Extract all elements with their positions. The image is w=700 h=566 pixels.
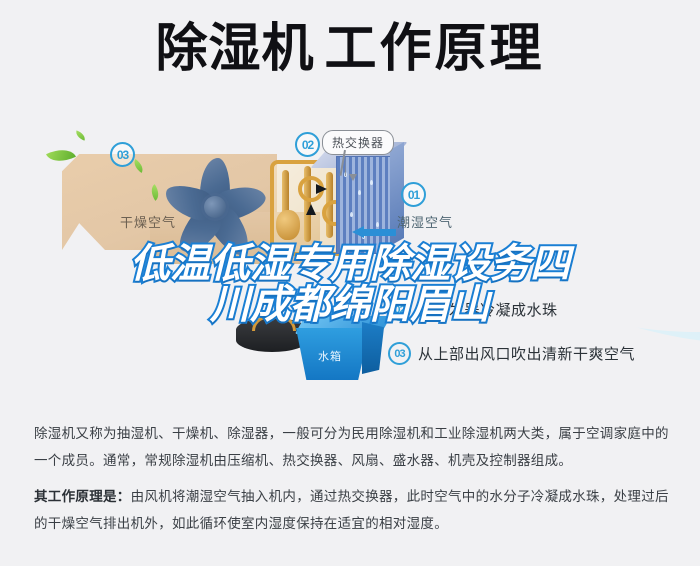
callout-pointer-arrow <box>349 174 357 181</box>
caption-number-03: 03 <box>388 342 411 365</box>
motor-coil-shape <box>252 316 296 331</box>
callout-number-03-left: 03 <box>110 142 135 167</box>
article-body: 除湿机又称为抽湿机、干燥机、除湿器，一般可分为民用除湿机和工业除湿机两大类，属于… <box>34 420 670 546</box>
title-product-name: 除湿机 <box>155 20 314 78</box>
caption-02: 02 过蒸发器冷凝成水珠 <box>388 298 558 321</box>
heat-exchanger-callout-bubble: 热交换器 <box>322 130 394 155</box>
humid-air-label: 潮湿空气 <box>397 212 453 231</box>
caption-number-02: 02 <box>388 298 411 321</box>
body-paragraph-2-lead: 其工作原理是： <box>34 489 131 504</box>
water-tank-icon: 水箱 <box>296 316 388 386</box>
callout-number-02: 02 <box>295 132 320 157</box>
fan-icon <box>160 148 268 256</box>
title-subject: 工作原理 <box>325 20 545 78</box>
caption-03: 03 从上部出风口吹出清新干爽空气 <box>388 342 635 365</box>
body-paragraph-1: 除湿机又称为抽湿机、干燥机、除湿器，一般可分为民用除湿机和工业除湿机两大类，属于… <box>34 420 670 474</box>
leaf-icon <box>74 130 87 140</box>
caption-text-02: 过蒸发器冷凝成水珠 <box>418 299 558 320</box>
water-tank-label: 水箱 <box>318 348 342 364</box>
poster-page: 除湿机工作原理 干燥空气 <box>0 0 700 566</box>
dehumidifier-diagram: 干燥空气 <box>0 120 700 400</box>
caption-text-03: 从上部出风口吹出清新干爽空气 <box>418 343 635 364</box>
callout-number-01: 01 <box>401 182 426 207</box>
flow-arrow-icon <box>352 226 396 238</box>
body-paragraph-2: 其工作原理是：由风机将潮湿空气抽入机内，通过热交换器，此时空气中的水分子冷凝成水… <box>34 483 670 537</box>
page-title: 除湿机工作原理 <box>0 22 700 77</box>
